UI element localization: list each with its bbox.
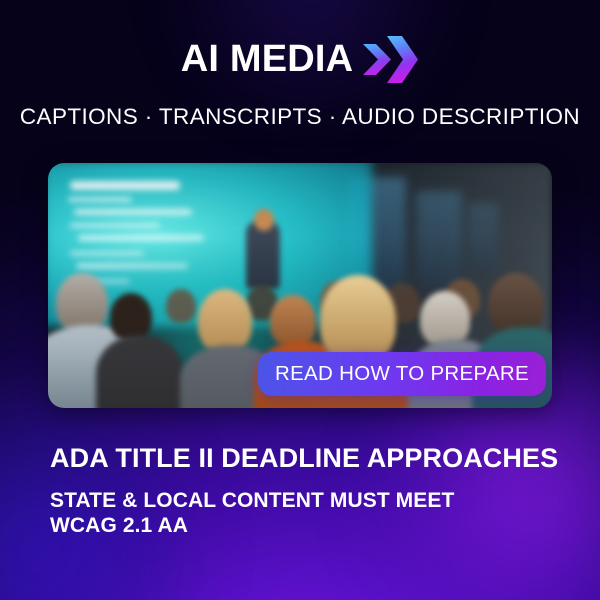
read-how-to-prepare-button[interactable]: READ HOW TO PREPARE (258, 352, 546, 396)
headline: ADA TITLE II DEADLINE APPROACHES (50, 443, 558, 474)
subheadline-line-2: WCAG 2.1 AA (50, 513, 454, 538)
brand-name: AI MEDIA (181, 40, 354, 78)
subheadline-line-1: STATE & LOCAL CONTENT MUST MEET (50, 488, 454, 513)
social-ad-card: AI MEDIA CAPTIONS · TRANSCRIP (0, 0, 600, 600)
subheadline: STATE & LOCAL CONTENT MUST MEET WCAG 2.1… (50, 488, 454, 538)
double-chevron-right-icon (361, 32, 419, 88)
brand-lockup: AI MEDIA (0, 36, 600, 82)
services-tagline: CAPTIONS · TRANSCRIPTS · AUDIO DESCRIPTI… (0, 104, 600, 130)
